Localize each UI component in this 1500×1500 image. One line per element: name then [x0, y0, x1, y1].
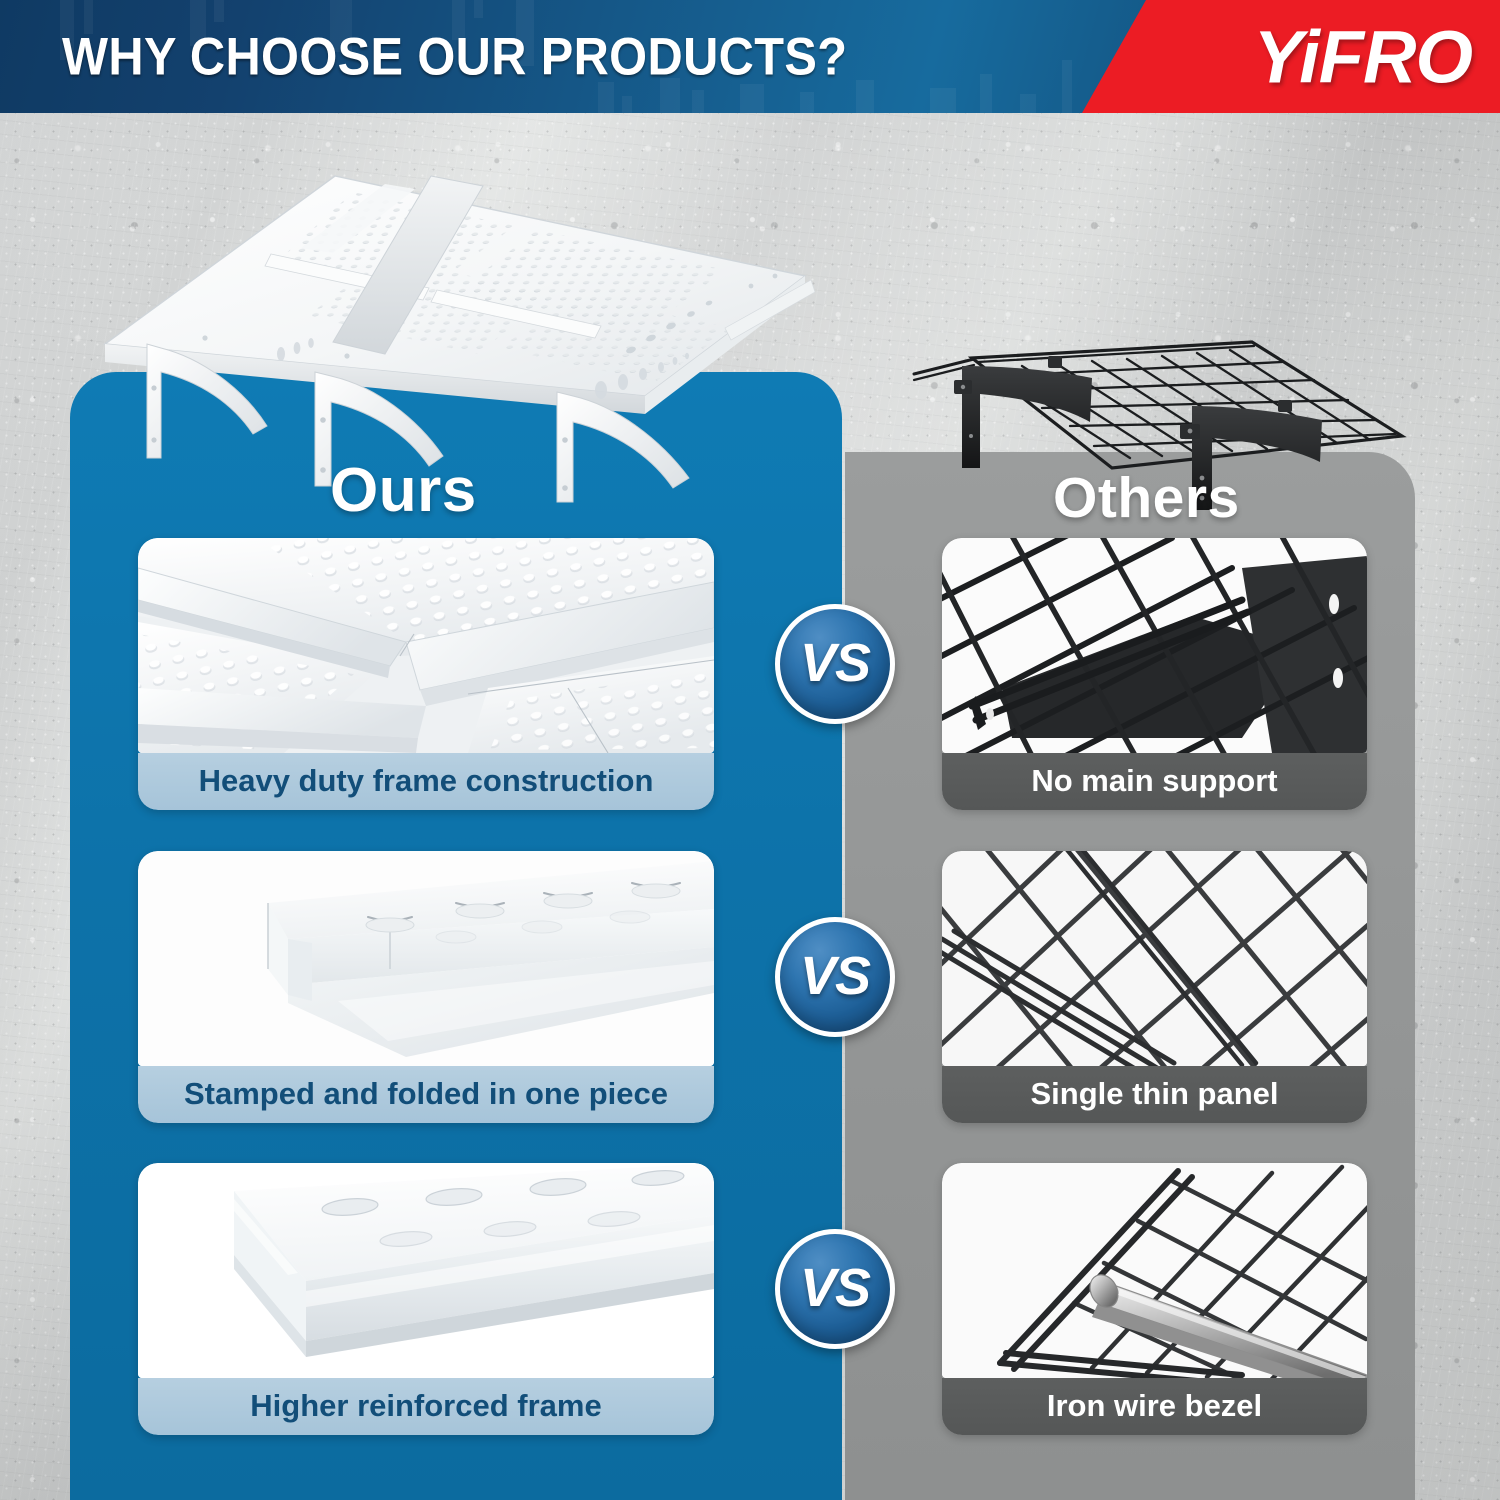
- others-heading: Others: [1053, 465, 1240, 531]
- vs-badge-1-label: VS: [800, 632, 870, 694]
- vs-badge-3: VS: [775, 1229, 895, 1349]
- hero-image-ours-white-shelf: [85, 158, 875, 513]
- others-photo-2: [942, 851, 1367, 1066]
- others-photo-1: [942, 538, 1367, 753]
- diamond-wire-mesh-closeup-illustration: [942, 851, 1367, 1066]
- others-feature-card-1: No main support: [942, 538, 1367, 810]
- others-photo-3: [942, 1163, 1367, 1378]
- page-title-text: WHY CHOOSE OUR PRODUCTS?: [62, 26, 847, 87]
- header-banner: WHY CHOOSE OUR PRODUCTS? YiFRO: [0, 0, 1500, 113]
- others-caption-1: No main support: [942, 753, 1367, 810]
- folded-bracket-closeup-illustration: [138, 851, 714, 1066]
- ours-caption-2: Stamped and folded in one piece: [138, 1066, 714, 1123]
- vs-badge-1: VS: [775, 604, 895, 724]
- others-feature-card-2: Single thin panel: [942, 851, 1367, 1123]
- vs-badge-2: VS: [775, 917, 895, 1037]
- vs-badge-3-label: VS: [800, 1257, 870, 1319]
- ours-feature-card-1: Heavy duty frame construction: [138, 538, 714, 810]
- ours-caption-2-text: Stamped and folded in one piece: [184, 1078, 668, 1111]
- page-title: WHY CHOOSE OUR PRODUCTS?: [62, 26, 916, 87]
- iron-wire-bezel-closeup-illustration: [942, 1163, 1367, 1378]
- ours-caption-3-text: Higher reinforced frame: [250, 1390, 601, 1423]
- ours-photo-3: [138, 1163, 714, 1378]
- ours-caption-3: Higher reinforced frame: [138, 1378, 714, 1435]
- perforated-steel-beam-closeup-illustration: [138, 538, 714, 753]
- infographic-canvas: WHY CHOOSE OUR PRODUCTS? YiFRO: [0, 0, 1500, 1500]
- ours-feature-card-3: Higher reinforced frame: [138, 1163, 714, 1435]
- vs-badge-2-label: VS: [800, 945, 870, 1007]
- others-caption-3: Iron wire bezel: [942, 1378, 1367, 1435]
- others-caption-2: Single thin panel: [942, 1066, 1367, 1123]
- ours-caption-1-text: Heavy duty frame construction: [199, 765, 654, 798]
- others-caption-1-text: No main support: [1031, 765, 1277, 798]
- others-caption-3-text: Iron wire bezel: [1047, 1390, 1262, 1423]
- ours-photo-1: [138, 538, 714, 753]
- ours-photo-2: [138, 851, 714, 1066]
- ours-feature-card-2: Stamped and folded in one piece: [138, 851, 714, 1123]
- ours-caption-1: Heavy duty frame construction: [138, 753, 714, 810]
- brand-logo: YiFRO: [1254, 14, 1472, 99]
- others-caption-2-text: Single thin panel: [1030, 1078, 1278, 1111]
- ours-heading: Ours: [330, 455, 477, 526]
- others-feature-card-3: Iron wire bezel: [942, 1163, 1367, 1435]
- black-wire-grid-closeup-illustration: [942, 538, 1367, 753]
- reinforced-frame-edge-closeup-illustration: [138, 1163, 714, 1378]
